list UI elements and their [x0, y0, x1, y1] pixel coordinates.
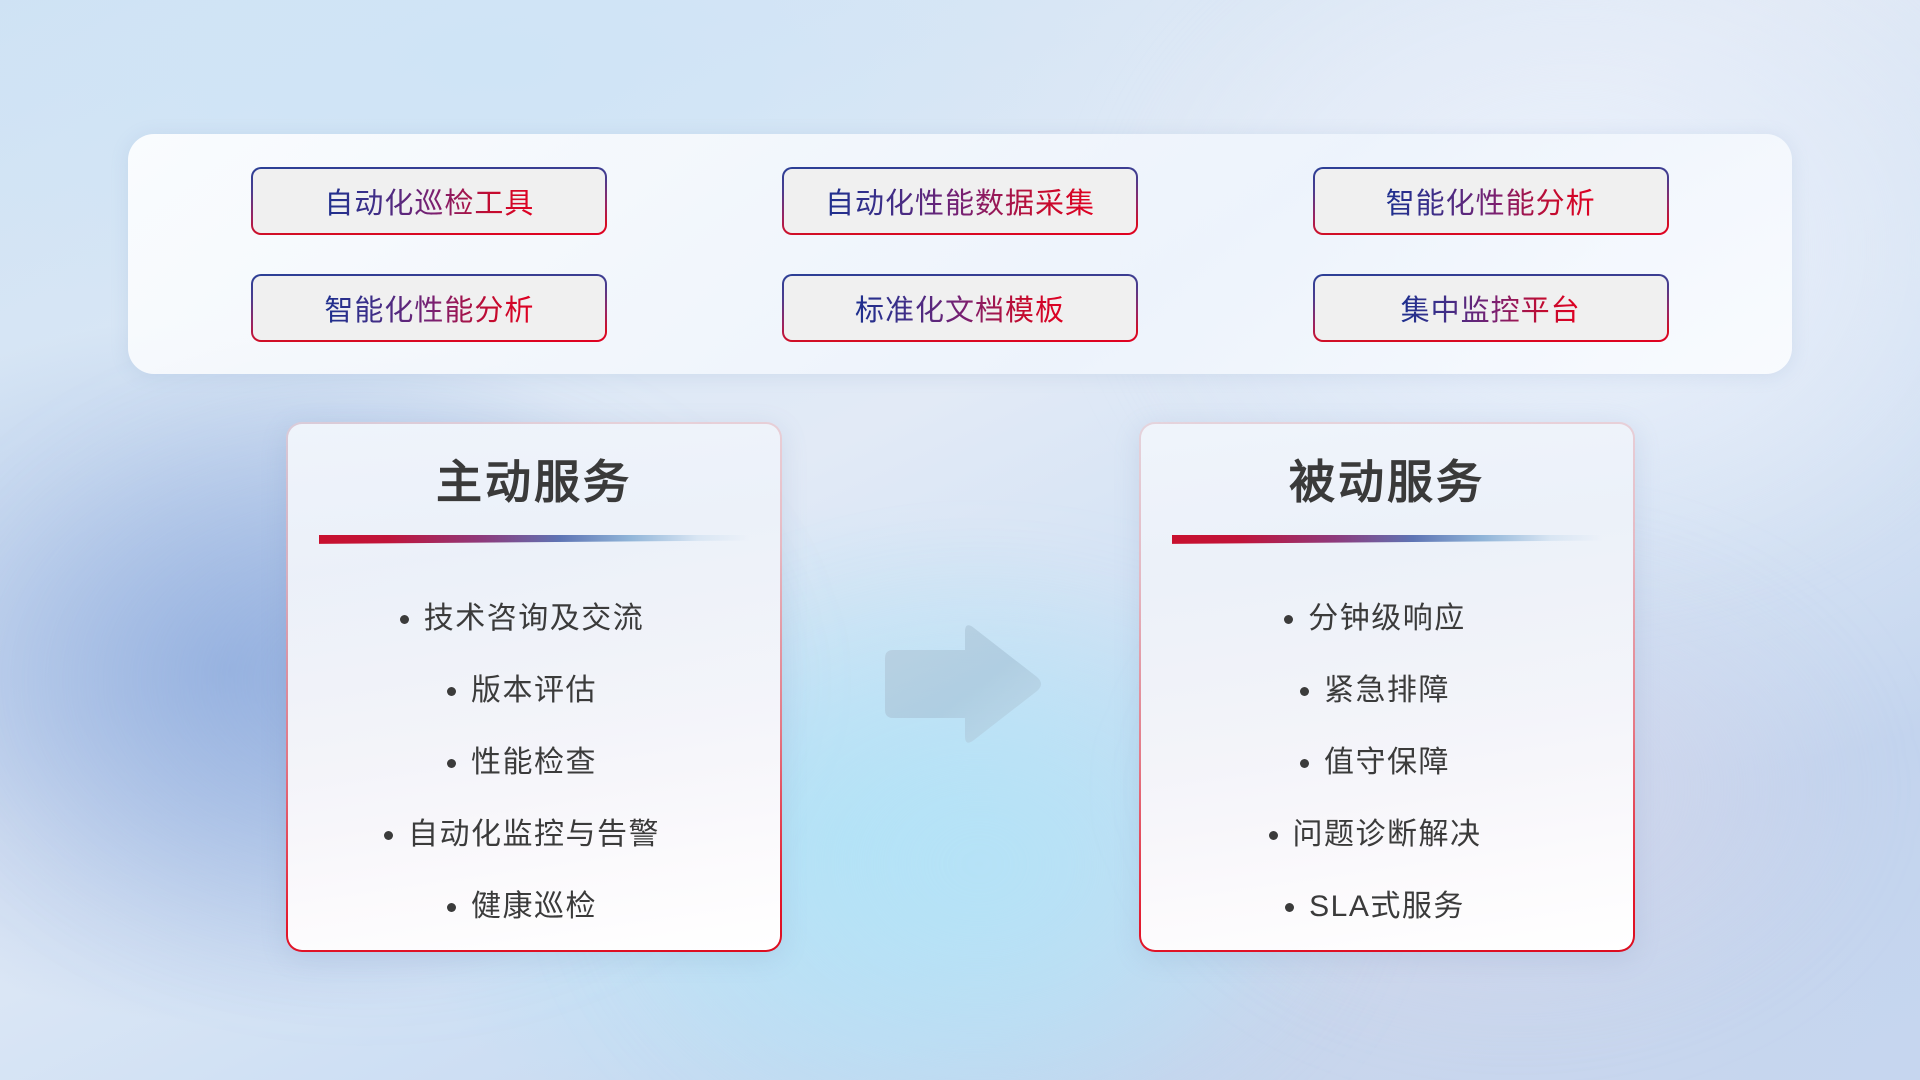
- divider-bar: [1172, 535, 1602, 544]
- list-item: 技术咨询及交流: [424, 583, 645, 655]
- service-card-reactive-title: 被动服务: [1289, 456, 1485, 509]
- list-item: 紧急排障: [1324, 655, 1450, 727]
- capability-pill-6-surface: 集中监控平台: [1315, 276, 1667, 340]
- service-card-proactive-list: 技术咨询及交流 版本评估 性能检查 自动化监控与告警 健康巡检: [288, 583, 780, 943]
- capability-pill-5-surface: 标准化文档模板: [784, 276, 1136, 340]
- capability-pill-3[interactable]: 智能化性能分析: [1313, 167, 1669, 235]
- capability-pill-4-label: 智能化性能分析: [324, 287, 534, 329]
- list-item: 自动化监控与告警: [408, 799, 660, 871]
- capability-pill-4-surface: 智能化性能分析: [253, 276, 605, 340]
- arrow-right-icon: [879, 620, 1045, 748]
- capability-pill-5-label: 标准化文档模板: [855, 287, 1065, 329]
- capability-pill-5[interactable]: 标准化文档模板: [782, 274, 1138, 342]
- capability-pill-6-label: 集中监控平台: [1401, 287, 1581, 329]
- list-item: 问题诊断解决: [1293, 799, 1482, 871]
- capability-pill-2[interactable]: 自动化性能数据采集: [782, 167, 1138, 235]
- capability-pill-2-surface: 自动化性能数据采集: [784, 169, 1136, 233]
- capabilities-panel: 自动化巡检工具 自动化性能数据采集 智能化性能分析 智能化性能分析 标准化文档模…: [128, 134, 1792, 374]
- capability-pill-1-label: 自动化巡检工具: [324, 180, 534, 222]
- service-card-proactive-divider: [319, 535, 749, 549]
- service-card-proactive-surface: 主动服务 技术咨询及交流 版本评估 性能检查 自动化监控与告警 健康巡检: [288, 424, 780, 950]
- service-card-reactive[interactable]: 被动服务 分钟级响应 紧急排障 值守保障 问题诊断解决 SLA式服务: [1139, 422, 1635, 952]
- divider-bar: [319, 535, 749, 544]
- capability-pill-1-surface: 自动化巡检工具: [253, 169, 605, 233]
- capability-pill-3-surface: 智能化性能分析: [1315, 169, 1667, 233]
- list-item: SLA式服务: [1309, 871, 1465, 943]
- service-card-proactive[interactable]: 主动服务 技术咨询及交流 版本评估 性能检查 自动化监控与告警 健康巡检: [286, 422, 782, 952]
- list-item: 健康巡检: [471, 871, 597, 943]
- service-card-reactive-surface: 被动服务 分钟级响应 紧急排障 值守保障 问题诊断解决 SLA式服务: [1141, 424, 1633, 950]
- list-item: 性能检查: [471, 727, 597, 799]
- list-item: 分钟级响应: [1308, 583, 1466, 655]
- list-item: 版本评估: [471, 655, 597, 727]
- service-card-reactive-divider: [1172, 535, 1602, 549]
- capabilities-grid: 自动化巡检工具 自动化性能数据采集 智能化性能分析 智能化性能分析 标准化文档模…: [128, 134, 1792, 374]
- list-item: 值守保障: [1324, 727, 1450, 799]
- capability-pill-3-label: 智能化性能分析: [1386, 180, 1596, 222]
- capability-pill-2-label: 自动化性能数据采集: [825, 180, 1095, 222]
- capability-pill-1[interactable]: 自动化巡检工具: [251, 167, 607, 235]
- capability-pill-4[interactable]: 智能化性能分析: [251, 274, 607, 342]
- capability-pill-6[interactable]: 集中监控平台: [1313, 274, 1669, 342]
- service-card-proactive-title: 主动服务: [436, 456, 632, 509]
- service-card-reactive-list: 分钟级响应 紧急排障 值守保障 问题诊断解决 SLA式服务: [1141, 583, 1633, 943]
